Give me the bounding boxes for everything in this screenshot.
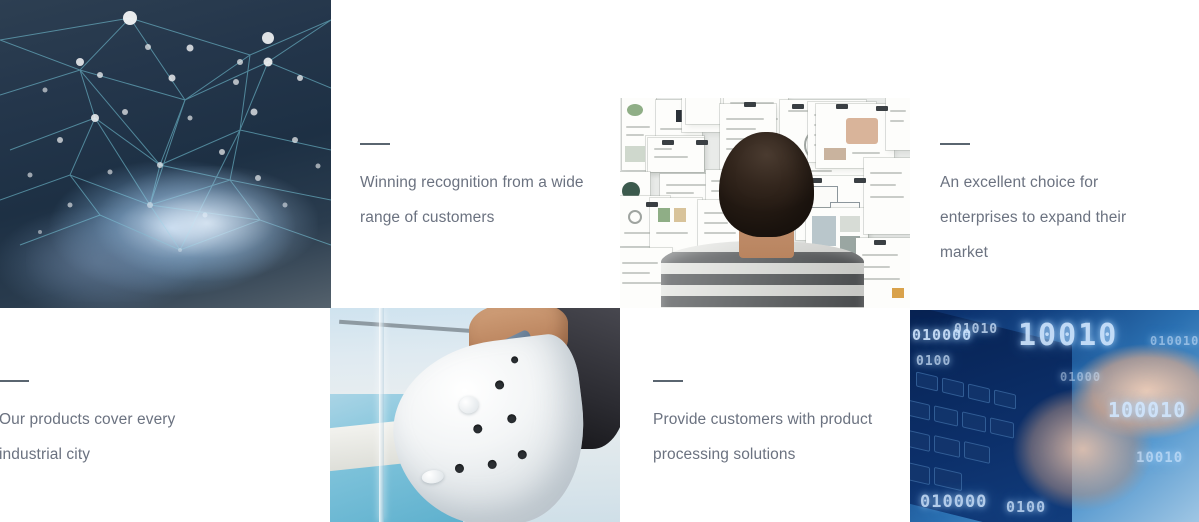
hands-typing-binary-data-image: 010000 01010 0100 10010 100010 010000 01… bbox=[910, 310, 1199, 522]
pin bbox=[744, 102, 756, 107]
feature-text-winning-recognition: Winning recognition from a wide range of… bbox=[331, 0, 620, 308]
binary-overlay-text: 0100 bbox=[1006, 498, 1046, 516]
feature-text-processing-solutions: Provide customers with product processin… bbox=[620, 308, 910, 522]
man-reviewing-wall-of-notes-image bbox=[620, 98, 910, 308]
feature-caption: Our products cover every industrial city bbox=[0, 402, 269, 472]
binary-overlay-text: 01010 bbox=[954, 322, 998, 337]
accent-divider bbox=[0, 380, 29, 382]
white-molded-product-in-hand-image bbox=[330, 308, 620, 522]
feature-grid: Winning recognition from a wide range of… bbox=[0, 0, 1199, 522]
feature-text-excellent-choice: An excellent choice for enterprises to e… bbox=[910, 0, 1199, 308]
feature-caption: Winning recognition from a wide range of… bbox=[360, 165, 610, 235]
accent-divider bbox=[940, 143, 970, 145]
glowing-hand-shape bbox=[26, 166, 317, 302]
network-connectivity-hand-image bbox=[0, 0, 331, 308]
pin bbox=[854, 178, 866, 183]
pin bbox=[876, 106, 888, 111]
pin bbox=[792, 104, 804, 109]
handrail bbox=[339, 320, 490, 335]
binary-overlay-text: 10010 bbox=[1018, 318, 1118, 353]
binary-overlay-text: 01000 bbox=[1060, 370, 1101, 384]
wall-note bbox=[856, 238, 910, 308]
binary-overlay-text: 0100 bbox=[916, 354, 951, 369]
feature-caption: Provide customers with product processin… bbox=[653, 402, 910, 472]
feature-caption: An excellent choice for enterprises to e… bbox=[940, 165, 1190, 270]
pin bbox=[836, 104, 848, 109]
pin bbox=[696, 140, 708, 145]
wall-note bbox=[686, 98, 720, 124]
wall-note bbox=[886, 98, 910, 150]
pin bbox=[874, 240, 886, 245]
binary-overlay-text: 10010 bbox=[1136, 450, 1183, 466]
pin bbox=[646, 202, 658, 207]
feature-text-products-cover: Our products cover every industrial city bbox=[0, 308, 330, 522]
pin bbox=[662, 140, 674, 145]
glass-panel-edge bbox=[379, 308, 384, 522]
binary-overlay-text: 100010 bbox=[1108, 398, 1186, 422]
accent-divider bbox=[653, 380, 683, 382]
binary-overlay-text: 010000 bbox=[920, 492, 987, 512]
wall-note bbox=[864, 158, 910, 234]
binary-overlay-text: 010010 bbox=[1150, 334, 1199, 348]
accent-divider bbox=[360, 143, 390, 145]
